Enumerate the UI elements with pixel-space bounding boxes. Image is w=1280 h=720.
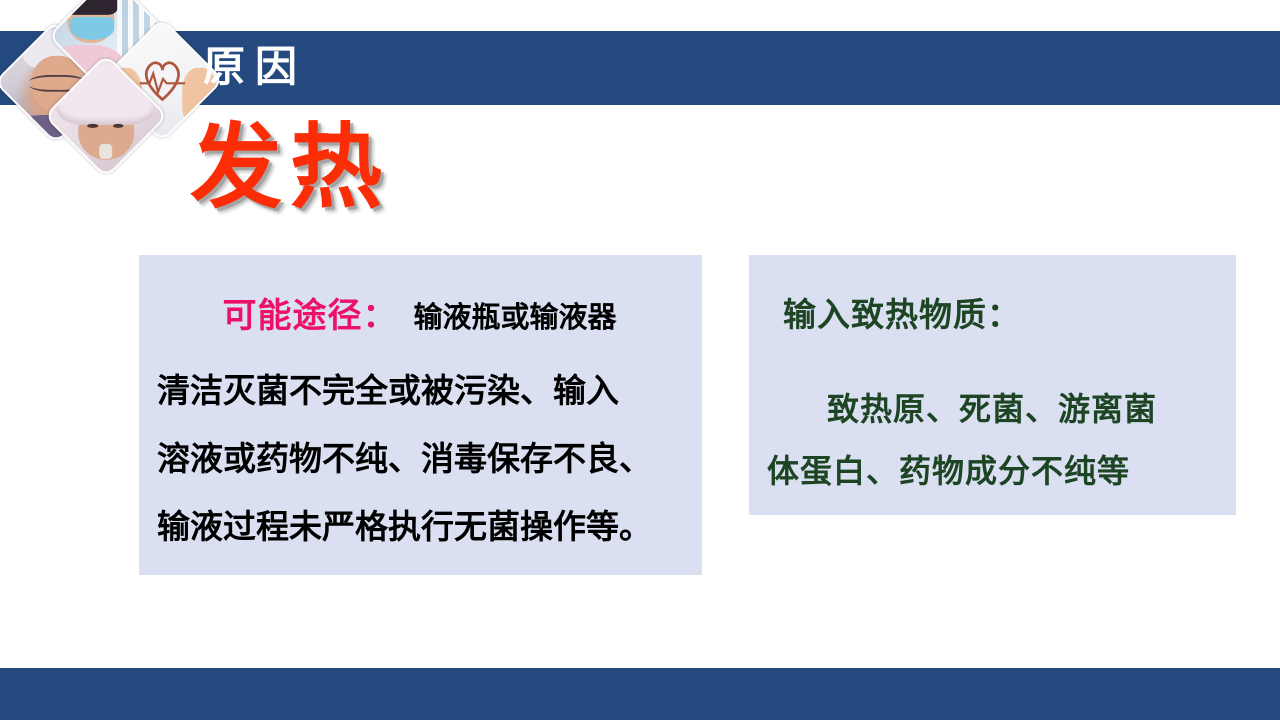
possible-route-line-3: 输液过程未严格执行无菌操作等。 xyxy=(149,494,690,562)
nurse-hair-shape xyxy=(63,0,117,15)
possible-route-head-text: 输液瓶或输液器 xyxy=(413,302,616,334)
footer-band xyxy=(0,668,1280,720)
pyrogen-line-1: 致热原、死菌、游离菌 xyxy=(767,340,1226,440)
possible-route-head-row: 可能途径：输液瓶或输液器 xyxy=(149,285,690,358)
baby-left-eye xyxy=(87,124,98,128)
possible-route-line-2: 溶液或药物不纯、消毒保存不良、 xyxy=(149,426,690,494)
fever-heading: 发热 xyxy=(190,112,390,224)
photo-collage xyxy=(0,0,200,160)
possible-route-box: 可能途径：输液瓶或输液器 清洁灭菌不完全或被污染、输入 溶液或药物不纯、消毒保存… xyxy=(139,255,702,575)
pyrogen-heading: 输入致热物质： xyxy=(767,290,1226,340)
baby-mouth-shape xyxy=(99,144,112,159)
possible-route-label: 可能途径： xyxy=(222,297,397,335)
page-title: 原因 xyxy=(203,38,307,98)
baby-right-eye xyxy=(113,124,124,128)
possible-route-line-1: 清洁灭菌不完全或被污染、输入 xyxy=(149,358,690,426)
pyrogen-line-2: 体蛋白、药物成分不纯等 xyxy=(767,440,1226,502)
pyrogen-substance-box: 输入致热物质： 致热原、死菌、游离菌 体蛋白、药物成分不纯等 xyxy=(749,255,1236,515)
slide-canvas: 原因 发热 可能途径：输液瓶或输液器 清洁灭菌不完全或被污染、输入 溶液或药物不… xyxy=(0,0,1280,720)
